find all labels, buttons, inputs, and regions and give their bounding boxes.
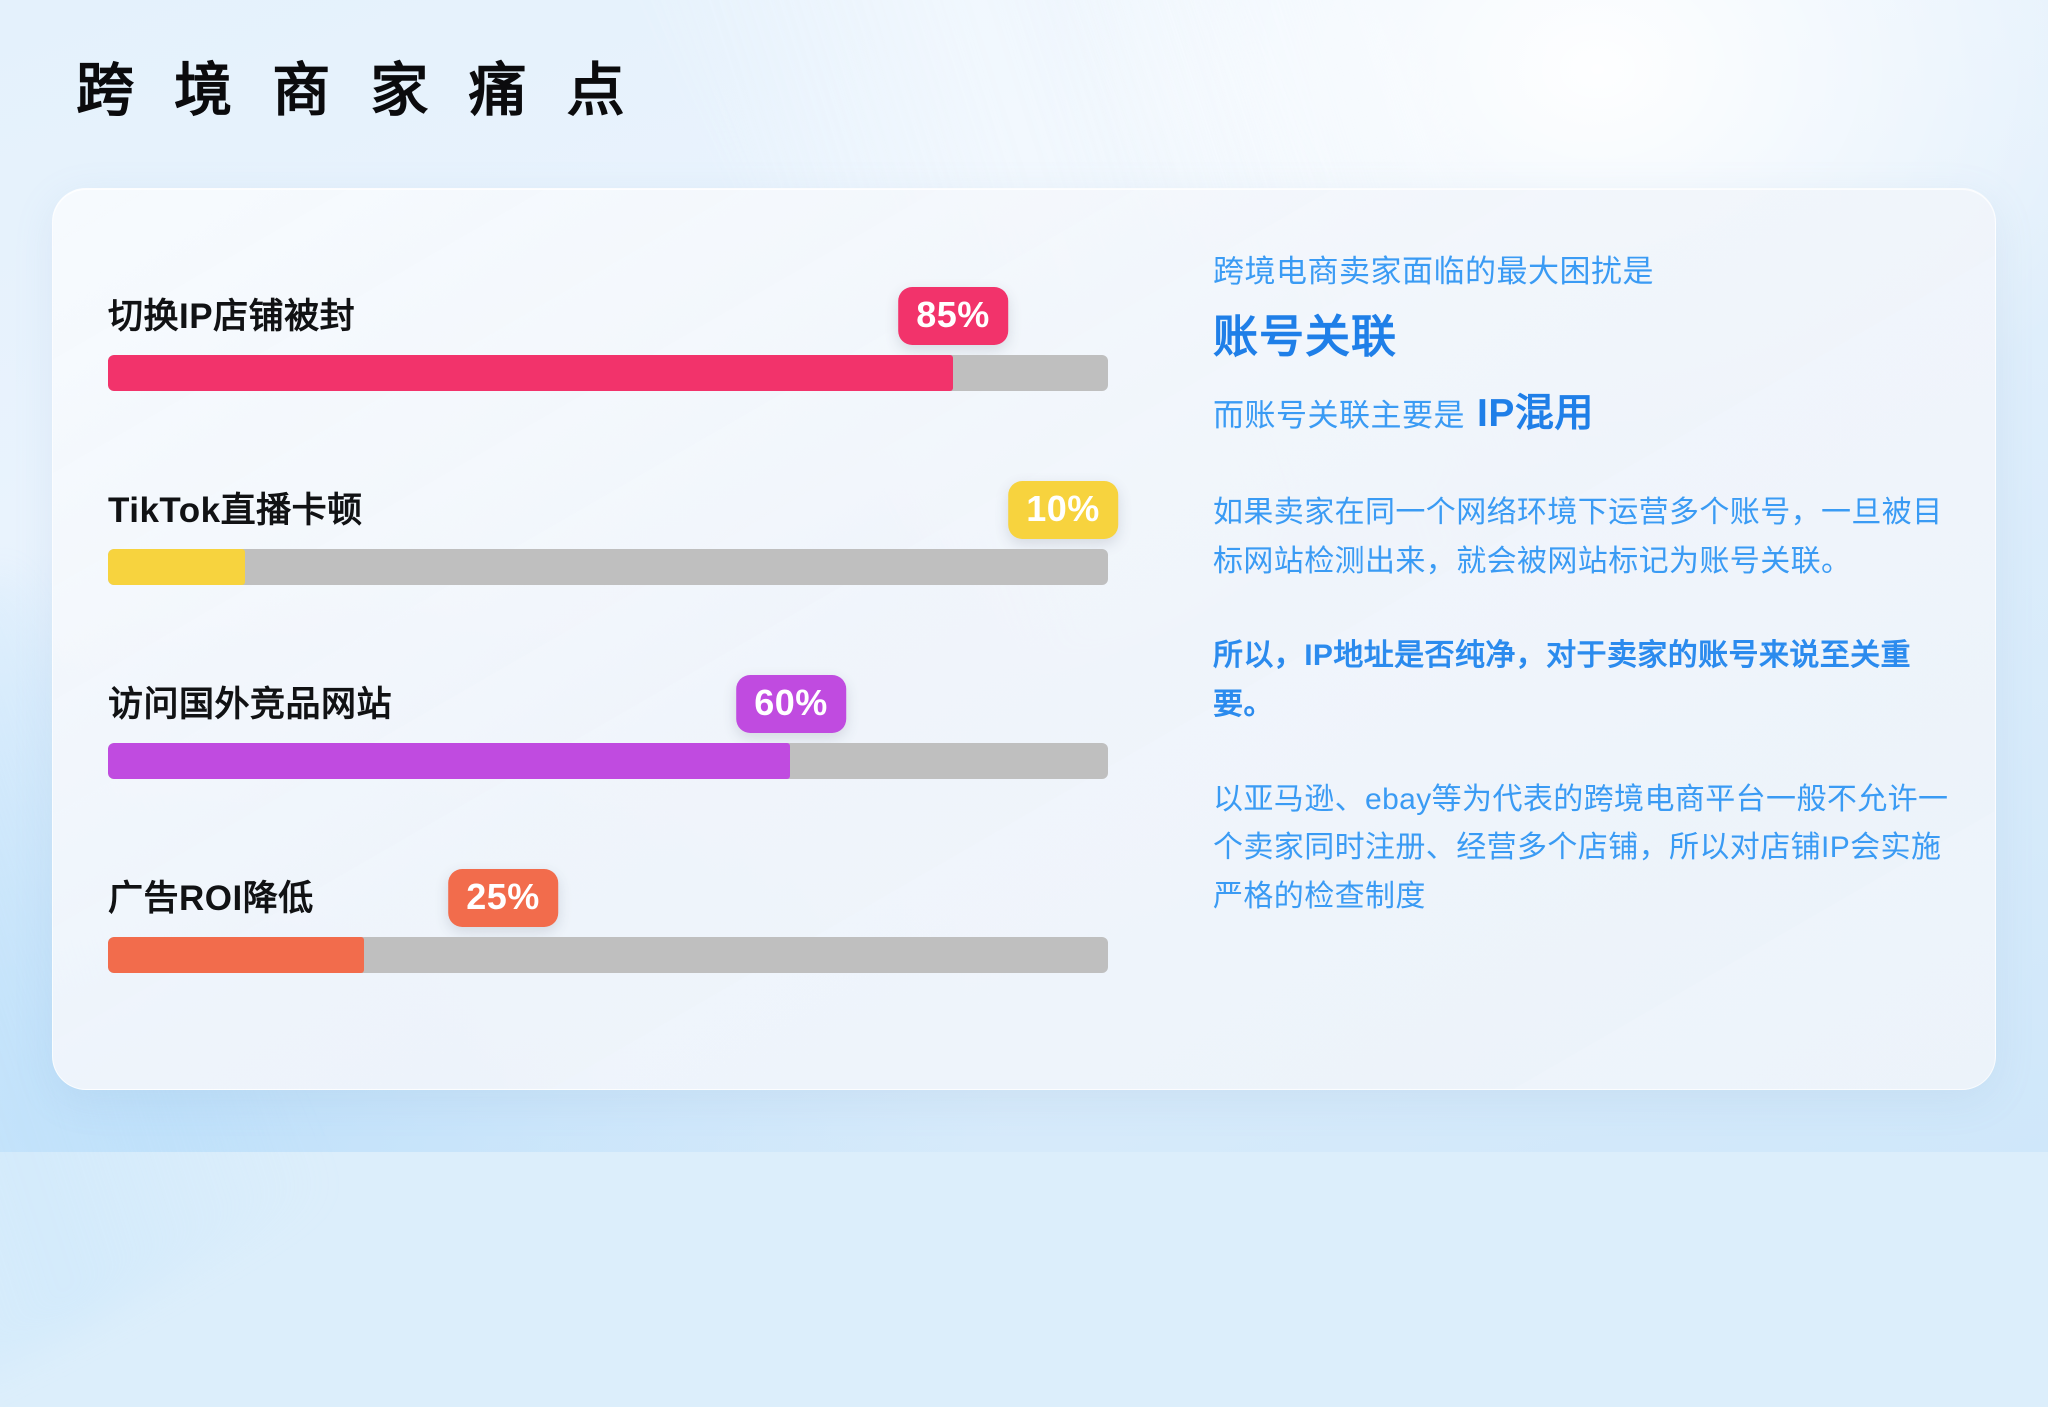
mixed-line-prefix: 而账号关联主要是 [1213, 398, 1465, 433]
slide-root: 跨 境 商 家 痛 点 切换IP店铺被封 85% TikTok直播卡顿 10% [0, 0, 2048, 1152]
bar-label: 切换IP店铺被封 [108, 288, 355, 339]
bar-row: 切换IP店铺被封 85% [108, 269, 1168, 391]
bar-value-badge: 85% [898, 287, 1008, 345]
page-title: 跨 境 商 家 痛 点 [76, 62, 637, 120]
paragraph-1: 如果卖家在同一个网络环境下运营多个账号，一旦被目标网站检测出来，就会被网站标记为… [1213, 489, 1953, 586]
explanation-text-panel: 跨境电商卖家面临的最大困扰是 账号关联 而账号关联主要是IP混用 如果卖家在同一… [1213, 249, 1973, 921]
bar-header: TikTok直播卡顿 10% [108, 463, 1168, 533]
bar-header: 广告ROI降低 25% [108, 851, 1168, 921]
bar-track [108, 355, 1108, 391]
bar-header: 切换IP店铺被封 85% [108, 269, 1168, 339]
bar-value-badge: 10% [1008, 481, 1118, 539]
content-card: 切换IP店铺被封 85% TikTok直播卡顿 10% [52, 188, 1996, 1090]
mixed-line-strong: IP混用 [1477, 392, 1594, 435]
intro-line: 跨境电商卖家面临的最大困扰是 [1213, 249, 1973, 296]
mixed-line: 而账号关联主要是IP混用 [1213, 385, 1973, 444]
bar-label: 广告ROI降低 [108, 870, 314, 921]
bar-row: 访问国外竞品网站 60% [108, 657, 1168, 779]
bar-label: TikTok直播卡顿 [108, 482, 363, 533]
bar-fill [108, 355, 953, 391]
paragraph-2: 所以，IP地址是否纯净，对于卖家的账号来说至关重要。 [1213, 632, 1953, 729]
bar-row: 广告ROI降低 25% [108, 851, 1168, 973]
bar-value-badge: 25% [448, 869, 558, 927]
bar-row: TikTok直播卡顿 10% [108, 463, 1168, 585]
bar-fill [108, 937, 364, 973]
bar-header: 访问国外竞品网站 60% [108, 657, 1168, 727]
bar-track [108, 743, 1108, 779]
bar-fill [108, 743, 790, 779]
bar-track [108, 549, 1108, 585]
highlight-term: 账号关联 [1213, 304, 1973, 369]
bar-fill [108, 549, 245, 585]
bar-track [108, 937, 1108, 973]
bar-value-badge: 60% [736, 675, 846, 733]
bar-label: 访问国外竞品网站 [108, 676, 392, 727]
pain-points-bar-chart: 切换IP店铺被封 85% TikTok直播卡顿 10% [108, 269, 1168, 973]
paragraph-3: 以亚马逊、ebay等为代表的跨境电商平台一般不允许一个卖家同时注册、经营多个店铺… [1213, 776, 1953, 922]
